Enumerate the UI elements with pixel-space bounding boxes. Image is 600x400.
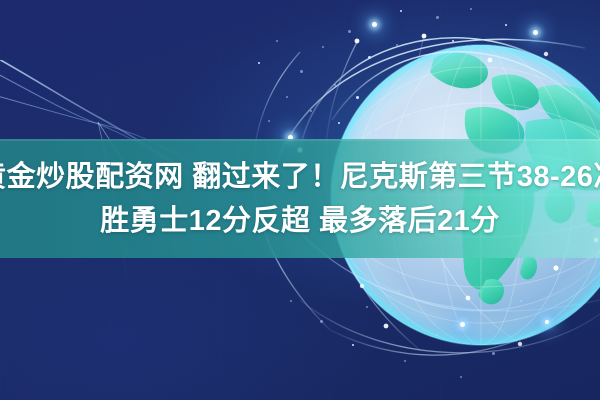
headline-line-2: 胜勇士12分反超 最多落后21分 (100, 202, 500, 240)
banner-image: 黄金炒股配资网 翻过来了！尼克斯第三节38-26净 胜勇士12分反超 最多落后2… (0, 0, 600, 400)
headline-line-1: 黄金炒股配资网 翻过来了！尼克斯第三节38-26净 (0, 158, 600, 196)
headline-block: 黄金炒股配资网 翻过来了！尼克斯第三节38-26净 胜勇士12分反超 最多落后2… (0, 139, 600, 258)
